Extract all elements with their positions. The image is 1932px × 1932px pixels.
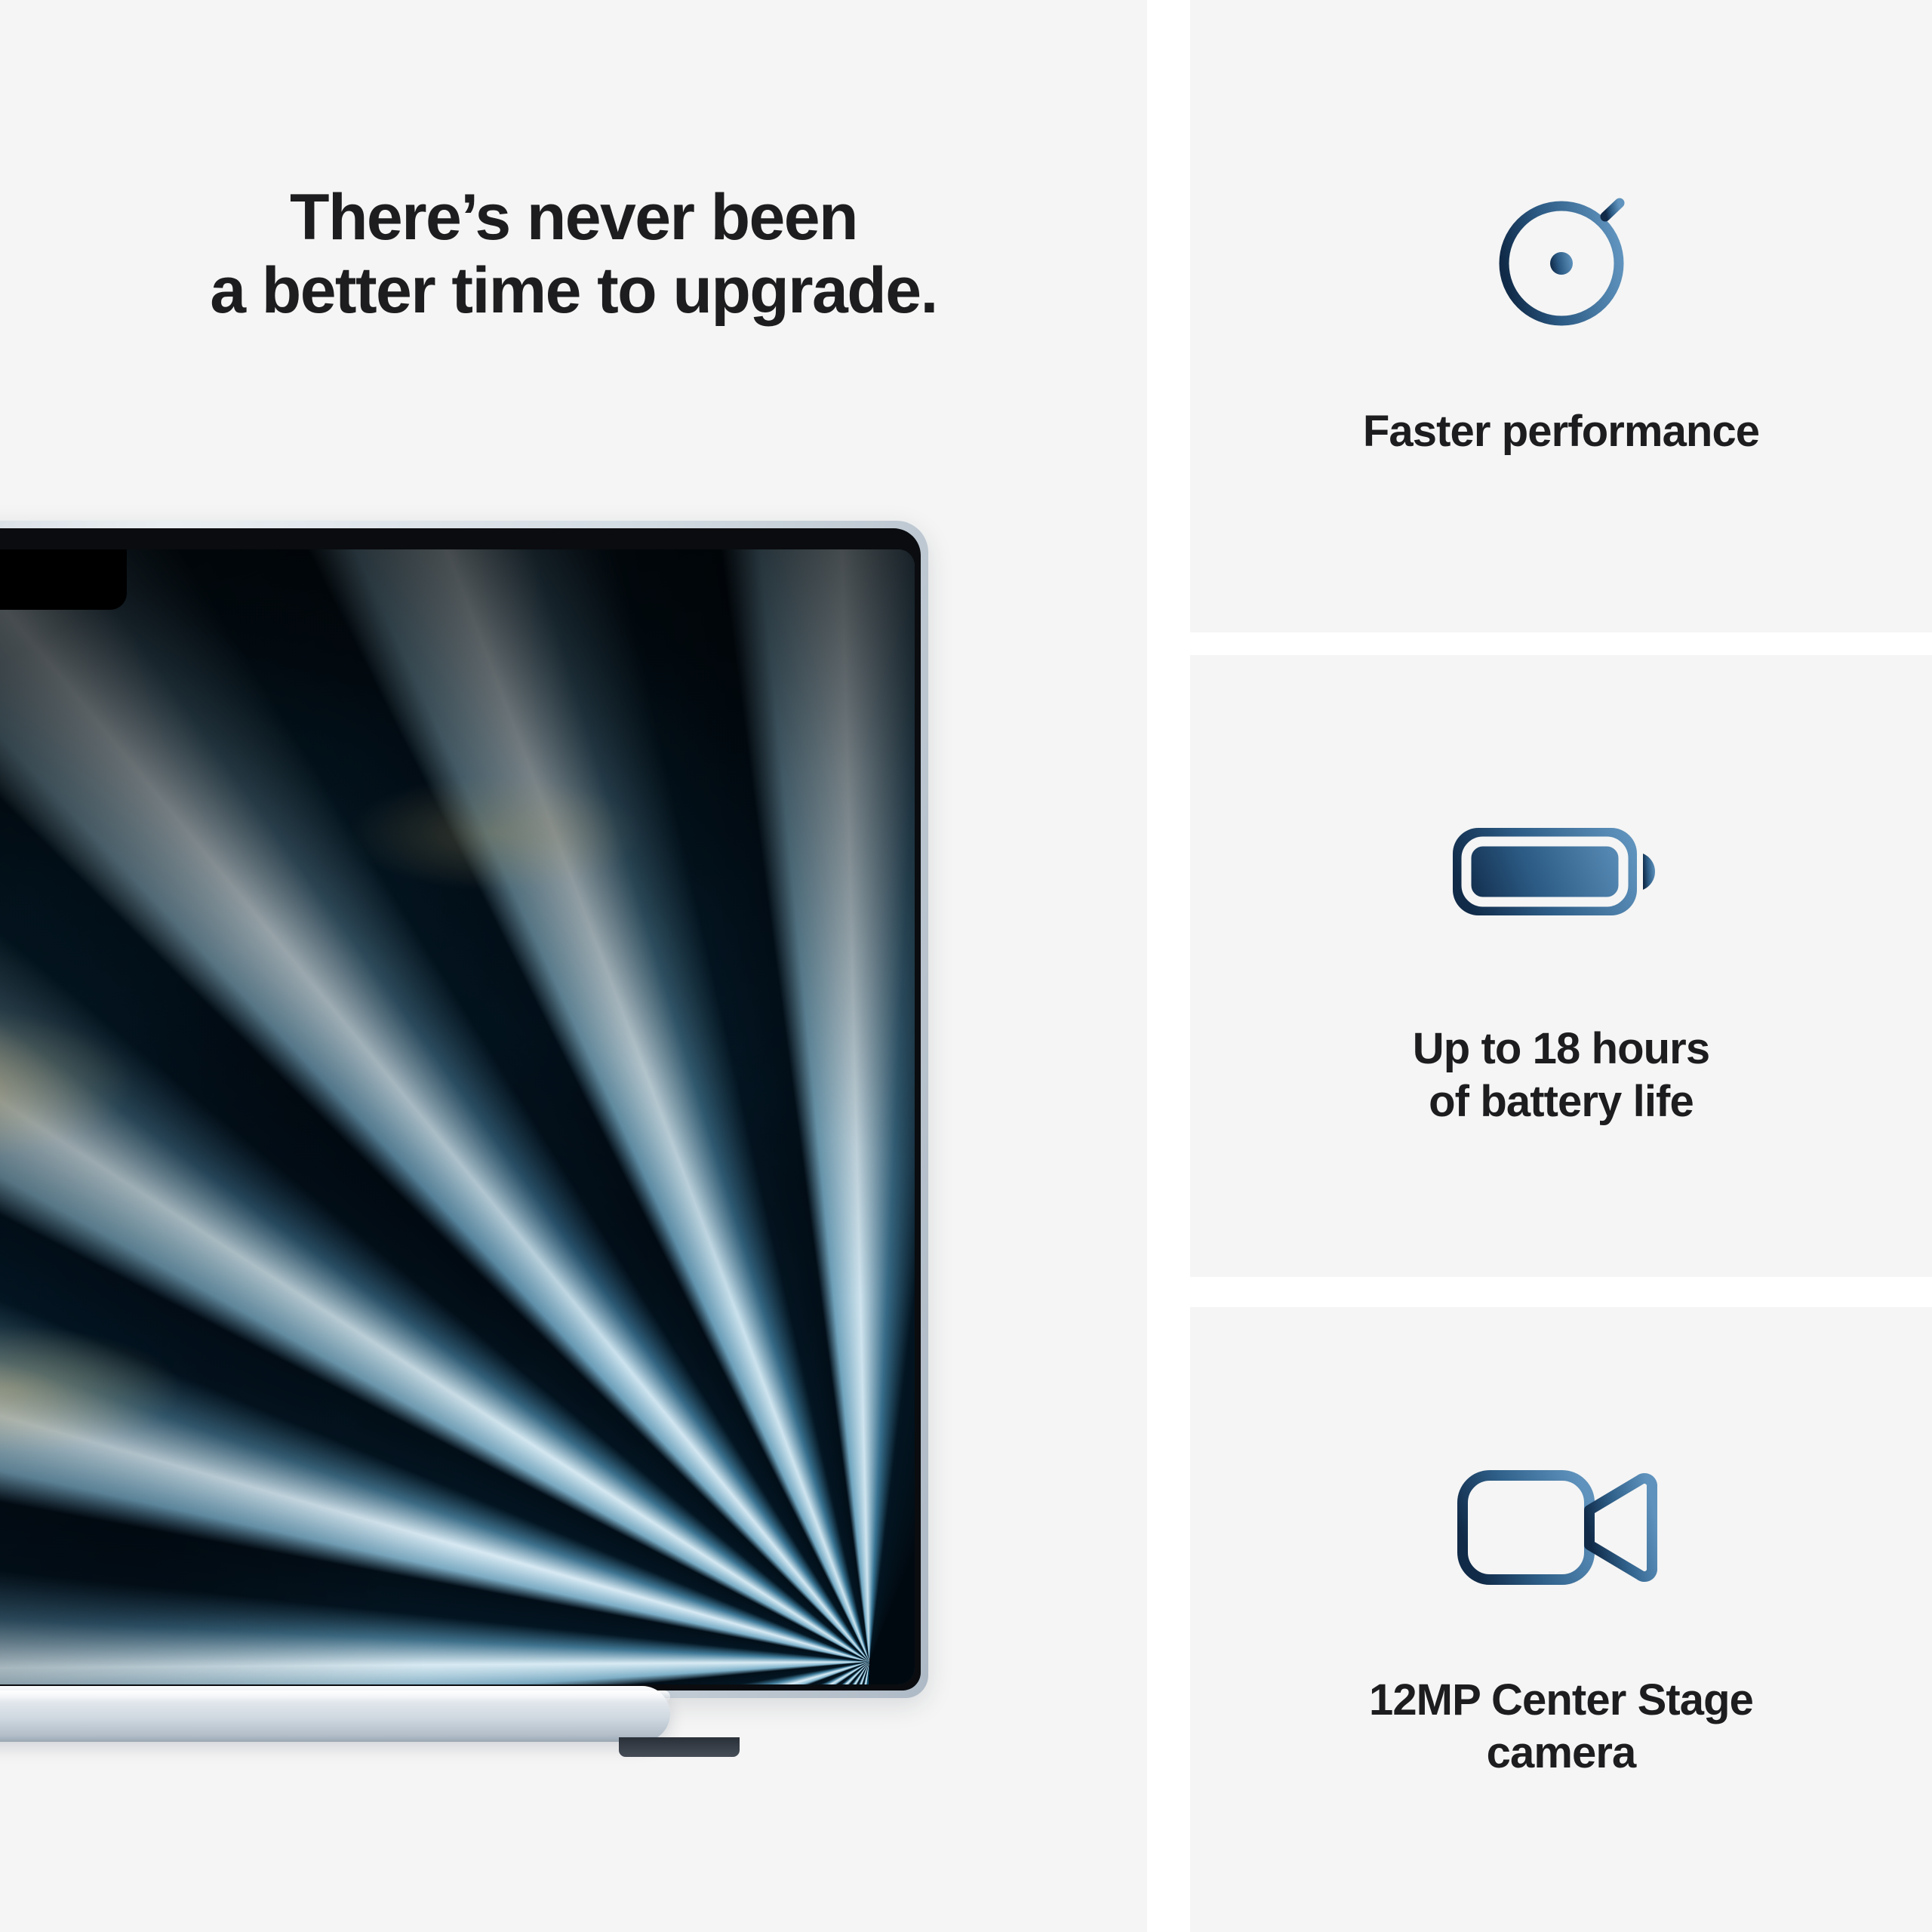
laptop-display [0,549,915,1684]
display-bezel [0,528,921,1690]
display-notch [0,549,127,610]
wallpaper-vignette [0,549,915,1684]
feature-card-label: 12MP Center Stage camera [1369,1674,1753,1779]
laptop-lid-shell [0,521,928,1698]
feature-label-line-1: 12MP Center Stage [1369,1674,1753,1727]
video-camera-icon [1456,1460,1667,1595]
feature-label-line-2: camera [1369,1727,1753,1780]
feature-card-label: Faster performance [1363,405,1759,458]
feature-card-faster-performance[interactable]: Faster performance [1190,0,1932,632]
feature-card-label: Up to 18 hours of battery life [1413,1023,1709,1128]
battery-icon [1448,804,1675,940]
laptop-base [0,1686,670,1742]
feature-label-line-2: of battery life [1413,1075,1709,1128]
base-highlight [0,1690,670,1703]
page-title: There’s never been a better time to upgr… [0,181,1147,328]
promo-tile: There’s never been a better time to upgr… [0,0,1932,1932]
laptop-foot [619,1737,740,1757]
feature-cards-column: Faster performance [1190,0,1932,1932]
feature-card-battery-life[interactable]: Up to 18 hours of battery life [1190,655,1932,1277]
stopwatch-icon [1482,174,1641,333]
headline-line-2: a better time to upgrade. [0,254,1147,328]
product-hero-panel: There’s never been a better time to upgr… [0,0,1147,1932]
feature-label-line-1: Faster performance [1363,405,1759,458]
headline-line-1: There’s never been [0,181,1147,254]
macbook-air-product-image [0,521,928,1743]
feature-label-line-1: Up to 18 hours [1413,1023,1709,1075]
feature-card-center-stage-camera[interactable]: 12MP Center Stage camera [1190,1307,1932,1932]
